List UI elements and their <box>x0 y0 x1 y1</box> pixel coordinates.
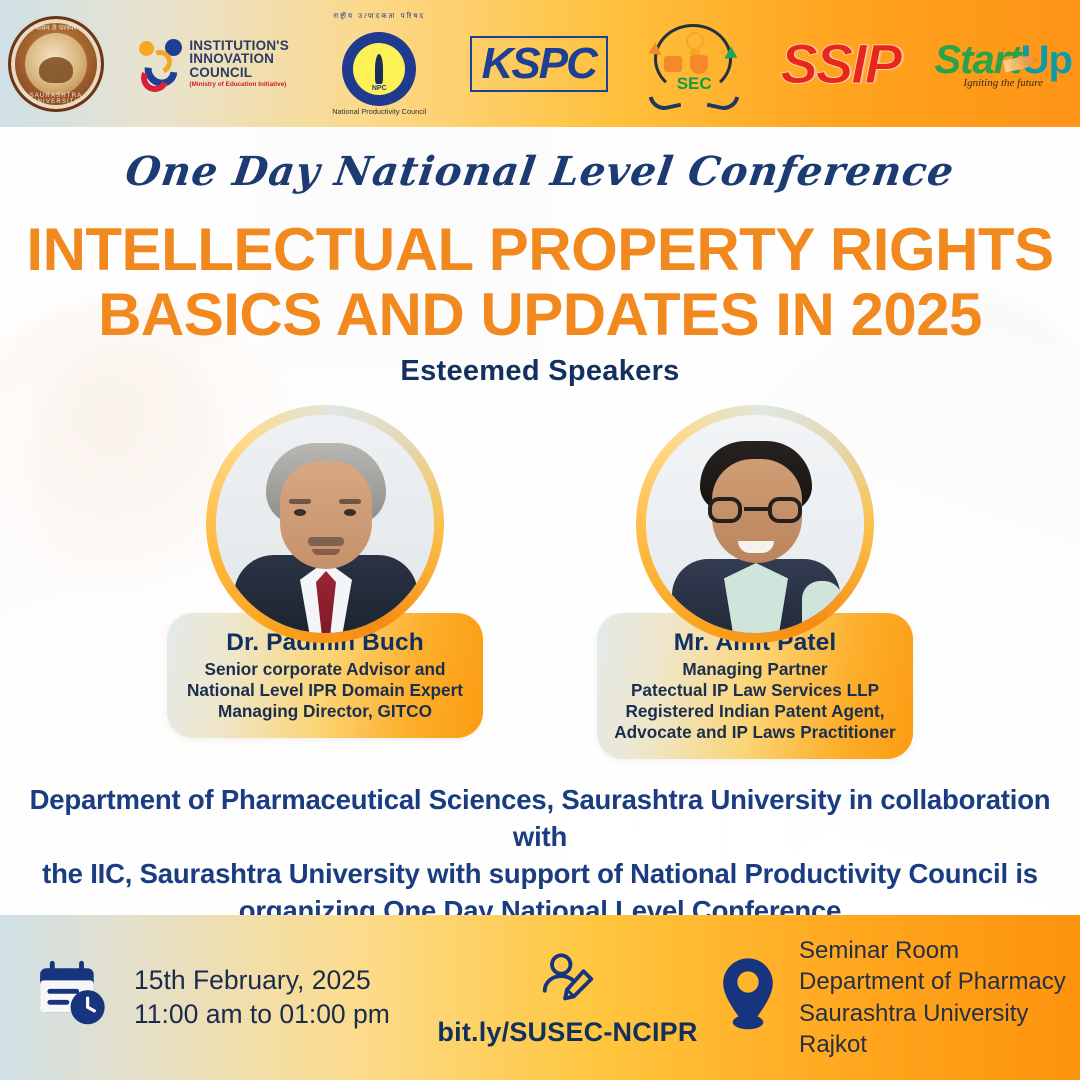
venue-line-3: Saurashtra University <box>799 998 1066 1029</box>
venue-block: Seminar Room Department of Pharmacy Saur… <box>705 935 1080 1060</box>
speaker-2-detail-1: Managing Partner <box>611 659 899 680</box>
speaker-1-detail-3: Managing Director, GITCO <box>181 701 469 722</box>
ssip-wordmark: SSIP <box>781 36 901 92</box>
speakers-section: Dr. Padmin Buch Senior corporate Advisor… <box>0 405 1080 759</box>
date-time-block: 15th February, 2025 11:00 am to 01:00 pm <box>0 956 430 1039</box>
npc-hindi-text: राष्ट्रीय उत्पादकता परिषद <box>323 12 435 21</box>
conference-poster: पावन ते परस्पर SAURASHTRA UNIVERSITY INS… <box>0 0 1080 1080</box>
iic-subtitle: (Ministry of Education Initiative) <box>189 82 289 89</box>
seal-label: SAURASHTRA UNIVERSITY <box>11 93 101 105</box>
title-line-1: INTELLECTUAL PROPERTY RIGHTS <box>26 216 1053 283</box>
npc-emblem-icon: NPC <box>342 32 416 106</box>
page-title: INTELLECTUAL PROPERTY RIGHTS BASICS AND … <box>0 218 1080 348</box>
event-date: 15th February, 2025 <box>134 964 390 998</box>
speaker-card-2: Mr. Amit Patel Managing Partner Patectua… <box>595 405 915 759</box>
calendar-clock-icon <box>34 956 112 1039</box>
location-pin-icon <box>715 956 781 1039</box>
kspc-wordmark: KSPC <box>482 42 596 86</box>
npc-abbreviation: NPC <box>342 85 416 92</box>
ssip-logo: SSIP <box>781 36 901 92</box>
title-line-2: BASICS AND UPDATES IN 2025 <box>0 283 1080 348</box>
description-line-1: Department of Pharmaceutical Sciences, S… <box>0 782 1080 856</box>
description-line-2: the IIC, Saurashtra University with supp… <box>0 856 1080 893</box>
sec-wordmark: SEC <box>642 74 746 94</box>
kspc-logo: KSPC <box>470 36 608 92</box>
venue-line-2: Department of Pharmacy <box>799 966 1066 997</box>
speaker-1-detail-1: Senior corporate Advisor and <box>181 659 469 680</box>
speaker-2-detail-3: Registered Indian Patent Agent, <box>611 701 899 722</box>
sec-hand-right-icon <box>707 91 740 113</box>
registration-link[interactable]: bit.ly/SUSEC-NCIPR <box>437 1017 697 1048</box>
speaker-1-detail-2: National Level IPR Domain Expert <box>181 680 469 701</box>
registration-block[interactable]: bit.ly/SUSEC-NCIPR <box>430 948 705 1048</box>
speaker-2-detail-4: Advocate and IP Laws Practitioner <box>611 722 899 743</box>
startup-logo: StartUp Igniting the future <box>935 38 1072 89</box>
speaker-1-avatar <box>216 415 434 633</box>
institutions-innovation-council-logo: INSTITUTION'S INNOVATION COUNCIL (Minist… <box>138 33 289 95</box>
venue-line-4: Rajkot <box>799 1029 1066 1060</box>
iic-swoosh-icon <box>138 33 184 95</box>
iic-line1: INSTITUTION'S <box>189 39 289 53</box>
iic-line3: COUNCIL <box>189 66 289 80</box>
sec-shield-icon <box>690 55 708 74</box>
iic-line2: INNOVATION <box>189 52 289 66</box>
speaker-2-photo-ring <box>636 405 874 643</box>
sec-logo: SEC <box>642 16 746 112</box>
speaker-2-avatar <box>646 415 864 633</box>
saurashtra-university-seal-icon: पावन ते परस्पर SAURASHTRA UNIVERSITY <box>8 16 104 112</box>
sec-gear-icon <box>664 56 682 72</box>
national-productivity-council-logo: राष्ट्रीय उत्पादकता परिषद NPC National P… <box>323 12 435 116</box>
event-time: 11:00 am to 01:00 pm <box>134 998 390 1032</box>
user-register-icon <box>537 948 599 1015</box>
speaker-card-1: Dr. Padmin Buch Senior corporate Advisor… <box>165 405 485 759</box>
seal-lion-icon <box>39 57 73 83</box>
seal-hindi-text: पावन ते परस्पर <box>11 24 101 33</box>
esteemed-speakers-heading: Esteemed Speakers <box>0 355 1080 388</box>
footer-info-band: 15th February, 2025 11:00 am to 01:00 pm… <box>0 915 1080 1080</box>
sec-lightbulb-icon <box>686 32 704 50</box>
speaker-1-photo-ring <box>206 405 444 643</box>
npc-label: National Productivity Council <box>332 107 426 116</box>
sponsor-logo-band: पावन ते परस्पर SAURASHTRA UNIVERSITY INS… <box>0 0 1080 127</box>
speaker-2-detail-2: Patectual IP Law Services LLP <box>611 680 899 701</box>
sec-hand-left-icon <box>649 91 682 113</box>
venue-line-1: Seminar Room <box>799 935 1066 966</box>
conference-script-title: One Day National Level Conference <box>0 148 1080 195</box>
